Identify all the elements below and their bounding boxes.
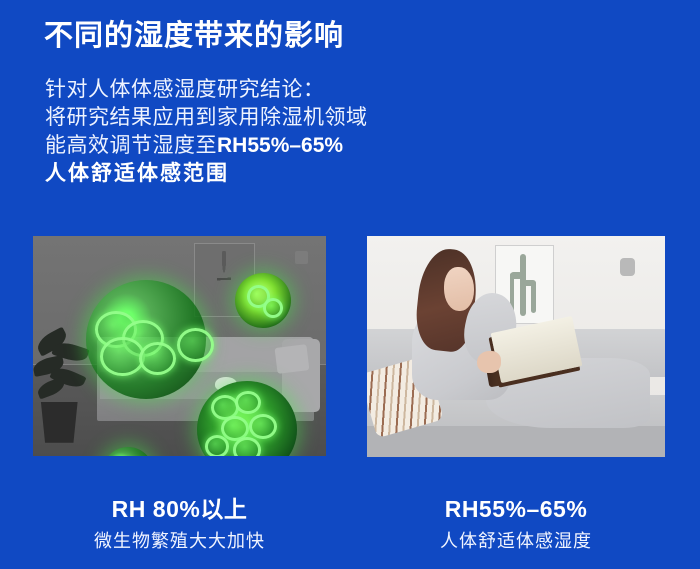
body-copy-block: 针对人体体感湿度研究结论： 将研究结果应用到家用除湿机领域 能高效调节湿度至RH… <box>45 76 368 188</box>
caption-title: RH 80%以上 <box>33 494 326 524</box>
bright-room-scene <box>367 236 665 457</box>
body-copy-line-1: 针对人体体感湿度研究结论： <box>45 76 368 104</box>
page-title: 不同的湿度带来的影响 <box>44 18 344 54</box>
photo-high-humidity <box>33 236 326 456</box>
woman-face <box>444 267 474 311</box>
plant-pot <box>38 402 80 443</box>
sofa-base <box>367 426 665 457</box>
wall-switch-icon <box>295 251 308 264</box>
plant-leaf <box>36 377 67 400</box>
wall-switch-icon <box>620 258 635 276</box>
dark-room-scene <box>33 236 326 456</box>
microbe-cluster <box>86 280 206 399</box>
caption-subtitle: 人体舒适体感湿度 <box>367 528 665 554</box>
photo-comfort-humidity <box>367 236 665 457</box>
body-copy-line-3: 能高效调节湿度至RH55%–65% <box>45 132 368 160</box>
caption-comfort-humidity: RH55%–65% 人体舒适体感湿度 <box>367 494 665 554</box>
body-copy-line-4: 人体舒适体感范围 <box>45 160 368 188</box>
microbe-cluster <box>235 273 291 328</box>
body-copy-line-3-normal: 能高效调节湿度至 <box>45 134 217 157</box>
humidity-range-highlight: RH55%–65% <box>217 134 343 157</box>
caption-high-humidity: RH 80%以上 微生物繁殖大大加快 <box>33 494 326 554</box>
caption-title: RH55%–65% <box>367 494 665 524</box>
caption-subtitle: 微生物繁殖大大加快 <box>33 528 326 554</box>
sofa-cushion <box>275 344 310 374</box>
humidity-infographic-poster: 不同的湿度带来的影响 针对人体体感湿度研究结论： 将研究结果应用到家用除湿机领域… <box>0 0 700 569</box>
body-copy-line-2: 将研究结果应用到家用除湿机领域 <box>45 104 368 132</box>
woman-hand <box>477 351 501 373</box>
